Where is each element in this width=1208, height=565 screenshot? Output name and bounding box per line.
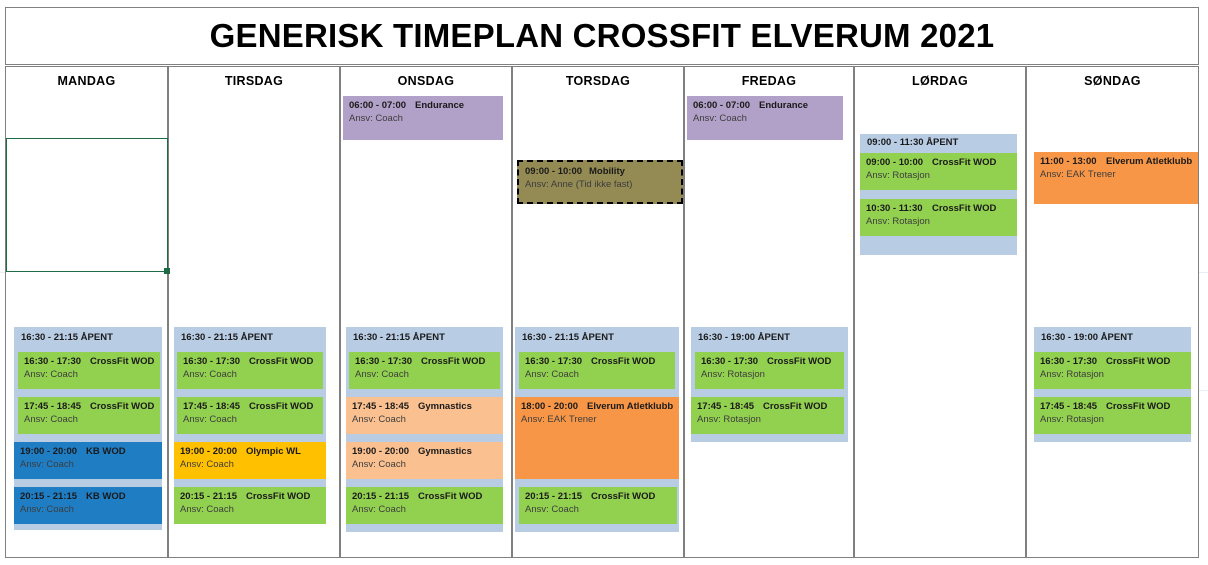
- day-column-sondag[interactable]: SØNDAG 11:00 - 13:00 Elverum Atletklubb …: [1026, 66, 1199, 558]
- timetable-sheet: GENERISK TIMEPLAN CROSSFIT ELVERUM 2021 …: [0, 0, 1208, 565]
- day-column-tirsdag[interactable]: TIRSDAG 16:30 - 21:15 ÅPENT 16:30 - 17:3…: [168, 66, 340, 558]
- cell-selection-fill-handle[interactable]: [164, 268, 170, 274]
- event-block[interactable]: 16:30 - 17:30 CrossFit WOD Ansv: Coach: [349, 352, 500, 389]
- event-block-morning[interactable]: 06:00 - 07:00 Endurance Ansv: Coach: [687, 96, 843, 140]
- day-body-tirsdag: 16:30 - 21:15 ÅPENT 16:30 - 17:30 CrossF…: [169, 94, 339, 557]
- cell-selection-rectangle[interactable]: [6, 138, 168, 272]
- day-body-lordag: 09:00 - 11:30 ÅPENT 09:00 - 10:00 CrossF…: [855, 94, 1025, 557]
- event-block[interactable]: 16:30 - 17:30 CrossFit WOD Ansv: Rotasjo…: [1034, 352, 1191, 389]
- day-header-fredag: FREDAG: [685, 67, 853, 94]
- event-block[interactable]: 19:00 - 20:00 KB WOD Ansv: Coach: [14, 442, 162, 479]
- event-block-mobility[interactable]: 09:00 - 10:00 Mobility Ansv: Anne (Tid i…: [517, 160, 683, 204]
- event-block[interactable]: 20:15 - 21:15 CrossFit WOD Ansv: Coach: [519, 487, 677, 524]
- event-block[interactable]: 16:30 - 17:30 CrossFit WOD Ansv: Coach: [519, 352, 675, 389]
- day-header-torsdag: TORSDAG: [513, 67, 683, 94]
- open-hours-label-fredag: 16:30 - 19:00 ÅPENT: [691, 327, 848, 349]
- day-body-sondag: 11:00 - 13:00 Elverum Atletklubb Ansv: E…: [1027, 94, 1198, 557]
- day-header-tirsdag: TIRSDAG: [169, 67, 339, 94]
- event-block[interactable]: 20:15 - 21:15 CrossFit WOD Ansv: Coach: [174, 487, 326, 524]
- event-block[interactable]: 17:45 - 18:45 CrossFit WOD Ansv: Coach: [18, 397, 160, 434]
- event-block[interactable]: 20:15 - 21:15 KB WOD Ansv: Coach: [14, 487, 162, 524]
- event-block[interactable]: 19:00 - 20:00 Olympic WL Ansv: Coach: [174, 442, 326, 479]
- page-title: GENERISK TIMEPLAN CROSSFIT ELVERUM 2021: [210, 17, 995, 55]
- event-block[interactable]: 17:45 - 18:45 Gymnastics Ansv: Coach: [346, 397, 503, 434]
- day-body-fredag: 06:00 - 07:00 Endurance Ansv: Coach 16:3…: [685, 94, 853, 557]
- event-block[interactable]: 19:00 - 20:00 Gymnastics Ansv: Coach: [346, 442, 503, 479]
- day-header-lordag: LØRDAG: [855, 67, 1025, 94]
- event-block[interactable]: 20:15 - 21:15 CrossFit WOD Ansv: Coach: [346, 487, 503, 524]
- open-hours-label-mandag: 16:30 - 21:15 ÅPENT: [14, 327, 162, 349]
- day-header-onsdag: ONSDAG: [341, 67, 511, 94]
- event-block-morning[interactable]: 11:00 - 13:00 Elverum Atletklubb Ansv: E…: [1034, 152, 1198, 204]
- day-column-fredag[interactable]: FREDAG 06:00 - 07:00 Endurance Ansv: Coa…: [684, 66, 854, 558]
- event-block[interactable]: 16:30 - 17:30 CrossFit WOD Ansv: Coach: [177, 352, 323, 389]
- open-hours-label-onsdag: 16:30 - 21:15 ÅPENT: [346, 327, 503, 349]
- event-block[interactable]: 17:45 - 18:45 CrossFit WOD Ansv: Rotasjo…: [1034, 397, 1191, 434]
- day-column-lordag[interactable]: LØRDAG 09:00 - 11:30 ÅPENT 09:00 - 10:00…: [854, 66, 1026, 558]
- event-block-morning[interactable]: 06:00 - 07:00 Endurance Ansv: Coach: [343, 96, 503, 140]
- open-hours-label-sondag: 16:30 - 19:00 ÅPENT: [1034, 327, 1191, 349]
- event-block[interactable]: 16:30 - 17:30 CrossFit WOD Ansv: Coach: [18, 352, 160, 389]
- event-block[interactable]: 16:30 - 17:30 CrossFit WOD Ansv: Rotasjo…: [695, 352, 844, 389]
- open-hours-label-lordag: 09:00 - 11:30 ÅPENT: [860, 134, 1017, 152]
- day-body-onsdag: 06:00 - 07:00 Endurance Ansv: Coach 16:3…: [341, 94, 511, 557]
- event-block[interactable]: 18:00 - 20:00 Elverum Atletklubb Ansv: E…: [515, 397, 679, 479]
- day-body-torsdag: 09:00 - 10:00 Mobility Ansv: Anne (Tid i…: [513, 94, 683, 557]
- open-hours-label-tirsdag: 16:30 - 21:15 ÅPENT: [174, 327, 326, 349]
- event-block[interactable]: 17:45 - 18:45 CrossFit WOD Ansv: Coach: [177, 397, 323, 434]
- day-column-onsdag[interactable]: ONSDAG 06:00 - 07:00 Endurance Ansv: Coa…: [340, 66, 512, 558]
- open-hours-label-torsdag: 16:30 - 21:15 ÅPENT: [515, 327, 679, 349]
- day-header-sondag: SØNDAG: [1027, 67, 1198, 94]
- event-block[interactable]: 10:30 - 11:30 CrossFit WOD Ansv: Rotasjo…: [860, 199, 1017, 236]
- event-block[interactable]: 09:00 - 10:00 CrossFit WOD Ansv: Rotasjo…: [860, 153, 1017, 190]
- day-column-torsdag[interactable]: TORSDAG 09:00 - 10:00 Mobility Ansv: Ann…: [512, 66, 684, 558]
- day-header-mandag: MANDAG: [6, 67, 167, 94]
- page-title-cell: GENERISK TIMEPLAN CROSSFIT ELVERUM 2021: [5, 7, 1199, 65]
- event-block[interactable]: 17:45 - 18:45 CrossFit WOD Ansv: Rotasjo…: [691, 397, 844, 434]
